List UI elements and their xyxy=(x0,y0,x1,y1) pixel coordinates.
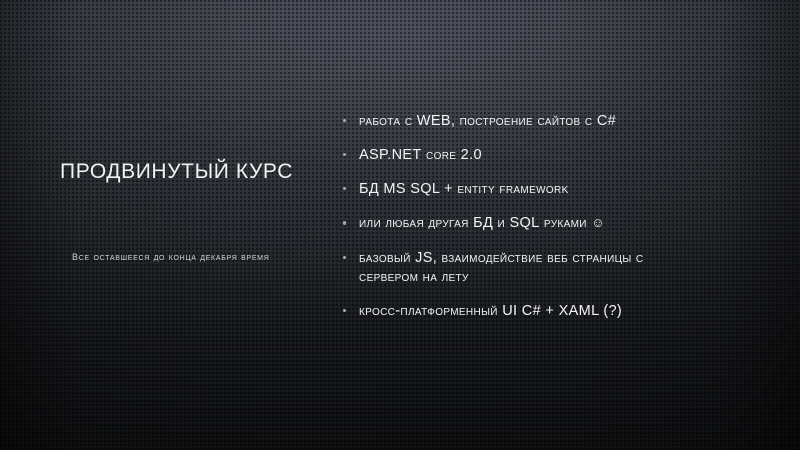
bullet-dot-icon xyxy=(343,309,346,312)
list-item: Работа с WEB, построение сайтов с C# xyxy=(338,112,690,131)
slide-subtitle: Все оставшееся до конца декабря время xyxy=(72,246,287,266)
list-item: ASP.NET Core 2.0 xyxy=(338,146,690,165)
bullet-dot-icon xyxy=(343,221,346,224)
presentation-slide: Продвинутый курс Все оставшееся до конца… xyxy=(0,0,800,450)
list-item-text: ASP.NET Core 2.0 xyxy=(359,147,482,163)
list-item-text: Базовый JS, взаимодействие веб страницы … xyxy=(359,250,644,285)
list-item-text: БД MS SQL + Entity Framework xyxy=(359,181,569,197)
bullet-dot-icon xyxy=(343,256,346,259)
list-item: Или любая другая БД и SQL руками ☺ xyxy=(338,214,690,233)
bullet-dot-icon xyxy=(343,119,346,122)
list-item: Кросс-платформенный UI C# + XAML (?) xyxy=(338,302,690,321)
bullet-dot-icon xyxy=(343,153,346,156)
content-placeholder[interactable]: Работа с WEB, построение сайтов с C#ASP.… xyxy=(338,112,690,321)
bullet-list: Работа с WEB, построение сайтов с C#ASP.… xyxy=(338,112,690,321)
title-placeholder[interactable]: Продвинутый курс Все оставшееся до конца… xyxy=(60,160,310,266)
list-item-text: Кросс-платформенный UI C# + XAML (?) xyxy=(359,303,622,319)
list-item-text: Работа с WEB, построение сайтов с C# xyxy=(359,113,616,129)
list-item: БД MS SQL + Entity Framework xyxy=(338,180,690,199)
slide-title: Продвинутый курс xyxy=(60,160,310,184)
bullet-dot-icon xyxy=(343,187,346,190)
list-item: Базовый JS, взаимодействие веб страницы … xyxy=(338,249,690,287)
list-item-text: Или любая другая БД и SQL руками ☺ xyxy=(359,215,605,231)
